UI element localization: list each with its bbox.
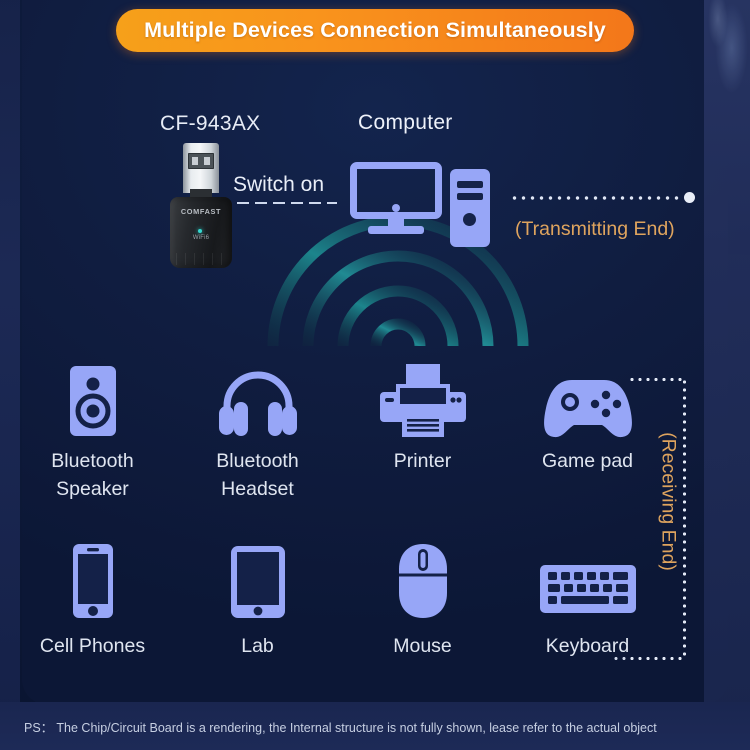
desktop-tower-icon — [450, 169, 490, 247]
footer-note: PS： The Chip/Circuit Board is a renderin… — [24, 717, 657, 736]
device-bluetooth-speaker: Bluetooth Speaker — [10, 360, 175, 503]
receiving-end-bracket: (Receiving End) — [628, 378, 700, 660]
adapter-brand-text: COMFAST — [177, 209, 225, 216]
tower-drive-slot — [457, 193, 483, 200]
device-cell-phones: Cell Phones — [10, 541, 175, 661]
device-label: Bluetooth Speaker — [51, 448, 133, 503]
computer-icon — [350, 162, 490, 257]
gamepad-icon — [542, 360, 634, 438]
title-banner: Multiple Devices Connection Simultaneous… — [116, 9, 634, 52]
monitor-power-dot — [392, 204, 400, 212]
bluetooth-speaker-icon — [62, 360, 124, 438]
adapter-led-indicator — [198, 229, 202, 233]
adapter-wifi-badge: WiFi6 — [188, 235, 214, 241]
tower-drive-slot — [457, 181, 483, 188]
banner-title: Multiple Devices Connection Simultaneous… — [144, 18, 606, 43]
usb-adapter-image: COMFAST WiFi6 — [170, 143, 232, 268]
device-printer: Printer — [340, 360, 505, 503]
dongle-model-label: CF-943AX — [160, 112, 260, 136]
bluetooth-headset-icon — [215, 360, 301, 438]
device-row-2: Cell Phones Lab — [10, 541, 670, 661]
monitor-icon — [350, 162, 442, 232]
device-label: Printer — [394, 448, 451, 476]
transmitting-endpoint-dot — [684, 192, 695, 203]
keyboard-icon — [540, 541, 636, 619]
usb-connector-icon — [183, 143, 219, 193]
printer-icon — [380, 360, 466, 438]
device-grid: Bluetooth Speaker Bluetooth Headset — [10, 360, 670, 661]
device-label: Lab — [241, 633, 274, 661]
device-label: Bluetooth Headset — [216, 448, 298, 503]
tablet-icon — [229, 541, 287, 619]
adapter-grip-texture — [176, 253, 226, 265]
receiving-bracket-side — [683, 378, 686, 660]
monitor-stand-base — [368, 226, 424, 234]
promo-graphic: Multiple Devices Connection Simultaneous… — [0, 0, 750, 750]
right-edge-strip — [704, 0, 750, 705]
tower-power-button-icon — [463, 213, 476, 226]
receiving-bracket-top — [628, 378, 686, 381]
device-label: Game pad — [542, 448, 633, 476]
device-label: Cell Phones — [40, 633, 145, 661]
receiving-bracket-bottom — [628, 657, 686, 660]
device-tablet: Lab — [175, 541, 340, 661]
device-row-1: Bluetooth Speaker Bluetooth Headset — [10, 360, 670, 503]
device-label: Mouse — [393, 633, 452, 661]
switch-on-label: Switch on — [233, 173, 324, 197]
transmitting-dotted-line — [510, 196, 682, 200]
receiving-end-label: (Receiving End) — [657, 407, 680, 597]
device-mouse: Mouse — [340, 541, 505, 661]
transmitting-end-label: (Transmitting End) — [515, 218, 675, 241]
computer-label: Computer — [358, 111, 453, 135]
mouse-icon — [397, 541, 449, 619]
cell-phone-icon — [69, 541, 117, 619]
device-bluetooth-headset: Bluetooth Headset — [175, 360, 340, 503]
